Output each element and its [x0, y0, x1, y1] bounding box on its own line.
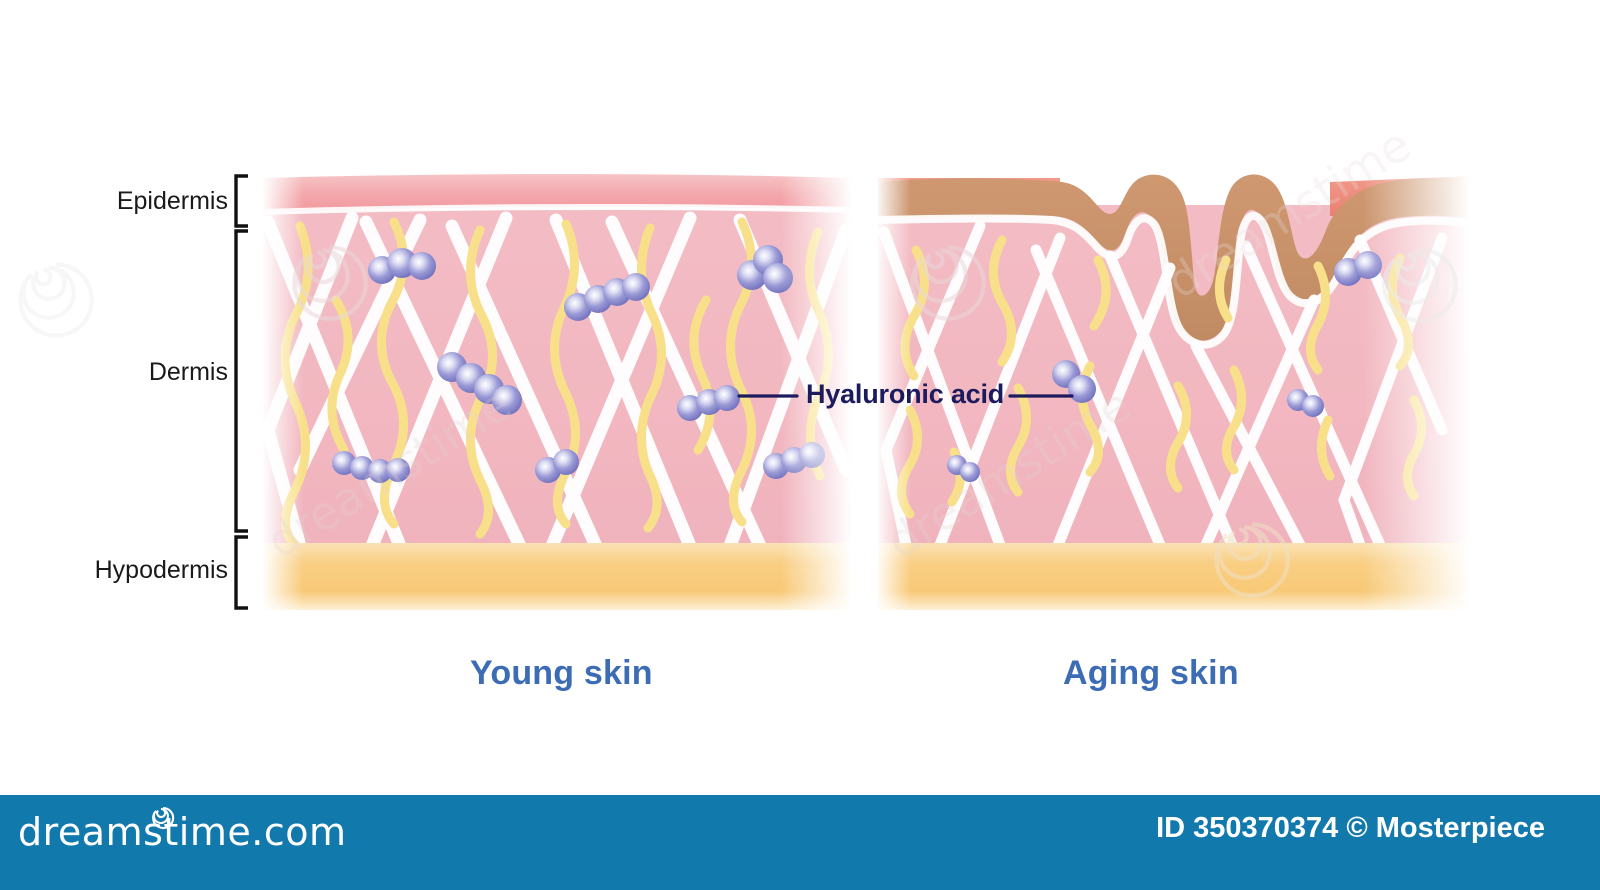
bracket-epidermis	[236, 176, 248, 226]
illustration-canvas: Epidermis Dermis Hypodermis	[0, 0, 1600, 890]
bracket-hypodermis	[236, 537, 248, 608]
skin-cross-section-diagram: dreamstime dreamstime dreamstime	[0, 0, 1600, 890]
layer-brackets	[236, 176, 248, 608]
image-id-credit-text: ID 350370374 © Mosterpiece	[1156, 812, 1545, 845]
aging-hypodermis-layer	[878, 543, 1470, 610]
panel-caption-aging-skin: Aging skin	[1063, 654, 1239, 693]
panel-young-skin	[262, 174, 852, 610]
young-hypodermis-layer	[262, 543, 852, 610]
dreamstime-logo-text: dreamstime.com	[18, 810, 346, 854]
hyaluronic-acid-callout-label: Hyaluronic acid	[806, 379, 1004, 410]
panel-caption-young-skin: Young skin	[470, 654, 653, 693]
dreamstime-spiral-icon	[150, 805, 176, 831]
bracket-dermis	[236, 231, 248, 531]
